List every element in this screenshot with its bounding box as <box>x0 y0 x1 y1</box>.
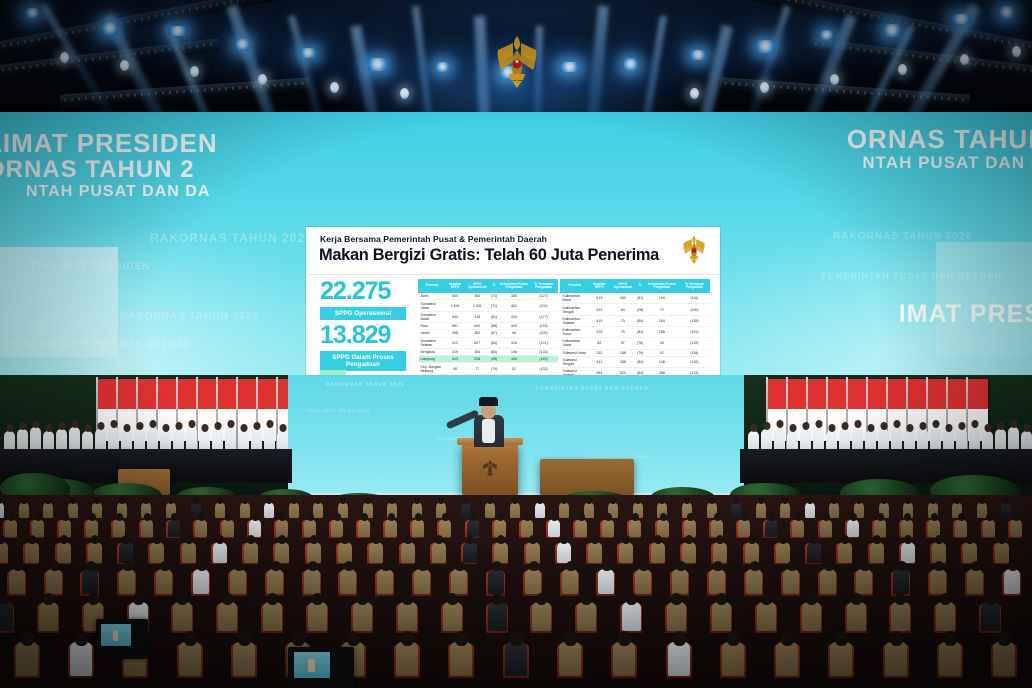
audience-member <box>385 519 397 537</box>
audience-head <box>21 497 27 504</box>
audience-member <box>682 542 696 563</box>
audience-head <box>234 561 244 571</box>
audience-head <box>308 561 318 571</box>
audience-member <box>263 602 282 631</box>
audience-member <box>119 569 135 594</box>
table-cell: 57 <box>610 338 636 349</box>
table-row: Sumatera Barat544418(81)404(177) <box>419 311 558 322</box>
stage-table-right <box>540 459 634 495</box>
audience-member <box>398 602 417 631</box>
audience-head <box>463 497 469 504</box>
table-header-cell: Provinsi <box>561 280 590 293</box>
audience-head <box>466 535 474 544</box>
audience-member <box>672 569 688 594</box>
table-cell: 92 <box>644 349 679 356</box>
audience-member <box>396 642 418 676</box>
audience-member <box>215 502 225 518</box>
audience-head <box>935 535 943 544</box>
audience-member <box>5 519 17 537</box>
audience-head <box>43 593 54 605</box>
audience-member <box>598 569 614 594</box>
table-cell: 305 <box>498 293 530 300</box>
table-cell: 82 <box>589 338 609 349</box>
audience-member <box>230 569 246 594</box>
backdrop-text-right-1: ORNAS TAHUN <box>847 126 1032 153</box>
kpi-value-2: 13.829 <box>320 323 406 348</box>
table-cell: 382 <box>465 330 490 337</box>
table-cell: (84) <box>636 315 644 326</box>
audience-head <box>787 561 797 571</box>
audience-head <box>492 593 503 605</box>
camera-rig-left <box>96 619 148 659</box>
stage-light <box>690 50 706 60</box>
light-beam <box>226 4 325 112</box>
audience-head <box>904 513 911 521</box>
table-cell: (101) <box>530 300 558 311</box>
table-row: Riau881600(88)409(118) <box>419 323 558 330</box>
audience-member <box>776 642 798 676</box>
audience-member <box>43 502 53 518</box>
audience-member <box>195 519 207 537</box>
table-cell: 148 <box>644 356 679 367</box>
audience-member <box>807 542 821 563</box>
seated-delegate <box>251 429 262 451</box>
audience-head <box>537 497 543 504</box>
audience-member <box>0 502 4 518</box>
table-cell: 188 <box>610 349 636 356</box>
audience-member <box>304 569 320 594</box>
table-cell: Kalimantan Timur <box>561 327 590 338</box>
audience-head <box>1013 513 1020 521</box>
audience-head <box>954 497 960 504</box>
audience-head <box>581 593 592 605</box>
seated-delegate <box>108 427 119 451</box>
table-cell: (79) <box>490 363 498 374</box>
audience-member <box>830 642 852 676</box>
camera-monitor-center <box>294 652 330 678</box>
audience-head <box>605 513 612 521</box>
seated-delegate <box>1008 427 1019 451</box>
table-cell: 188 <box>644 327 679 338</box>
table-cell: (84) <box>490 348 498 355</box>
audience-member <box>439 519 451 537</box>
audience-member <box>820 519 832 537</box>
stage-light-round <box>60 52 69 63</box>
speaker-shirt <box>482 419 495 443</box>
audience-head <box>761 593 772 605</box>
stage-light <box>952 14 971 24</box>
audience-member <box>233 642 255 676</box>
audience-member <box>353 602 372 631</box>
audience-member <box>622 602 641 631</box>
audience-head <box>930 497 936 504</box>
audience-member <box>995 542 1009 563</box>
stage-light <box>368 58 387 71</box>
audience-member <box>39 602 58 631</box>
stage-backdrop-text-3: PEMERINTAH PUSAT DAN DAERAH <box>536 387 649 392</box>
audience-head <box>931 513 938 521</box>
audience-member <box>331 519 343 537</box>
audience-member <box>930 569 946 594</box>
seated-delegate <box>813 427 824 451</box>
audience-member <box>193 569 209 594</box>
table-header-cell: Sasaran SPPG <box>445 280 464 293</box>
table-cell: 627 <box>465 337 490 348</box>
audience-head <box>267 593 278 605</box>
audience-member <box>955 519 967 537</box>
audience-head <box>198 513 205 521</box>
table-cell: 818 <box>465 356 490 363</box>
side-monitor-right <box>936 242 1032 357</box>
audience-member <box>412 519 424 537</box>
audience-head <box>895 593 906 605</box>
audience-head <box>470 513 477 521</box>
audience-member <box>0 542 8 563</box>
audience-member <box>711 519 723 537</box>
audience-head <box>660 513 667 521</box>
audience-head <box>560 535 568 544</box>
audience-member <box>289 502 299 518</box>
audience-head <box>144 513 151 521</box>
table-cell: (100) <box>679 304 709 315</box>
audience-member <box>267 569 283 594</box>
audience-head <box>841 535 849 544</box>
seated-delegate <box>917 429 928 451</box>
audience-member <box>722 642 744 676</box>
stage-light-round <box>760 82 769 93</box>
stage-light <box>436 62 449 72</box>
audience-member <box>526 542 540 563</box>
audience-member <box>150 542 164 563</box>
backdrop-text-right-4: RAKORNAS TAHUN 2026 <box>833 232 972 242</box>
backdrop-text-left-1: LIMAT PRESIDEN <box>0 130 218 157</box>
audience-member <box>369 542 383 563</box>
audience-member <box>0 602 13 631</box>
audience-head <box>727 631 740 646</box>
audience-member <box>59 519 71 537</box>
audience-member <box>820 569 836 594</box>
table-row: Kalimantan Tengah31984(28)72(100) <box>561 304 710 315</box>
stage-light <box>236 38 249 51</box>
audience-head <box>709 497 715 504</box>
table-cell: 881 <box>445 323 464 330</box>
audience-head <box>586 497 592 504</box>
table-cell: (71) <box>490 293 498 300</box>
stage-light <box>300 48 316 58</box>
table-header-cell: % Termasuk Pengadaan <box>530 280 558 293</box>
audience-member <box>657 519 669 537</box>
seated-delegate <box>904 431 915 451</box>
table-cell: Sulawesi Utara <box>561 349 590 356</box>
table-cell: 341 <box>589 356 609 367</box>
audience-member <box>113 519 125 537</box>
audience-head <box>714 513 721 521</box>
seated-delegate <box>82 431 93 451</box>
table-cell: 519 <box>589 293 609 304</box>
seated-delegate <box>225 427 236 451</box>
audience-head <box>536 593 547 605</box>
audience-head <box>89 513 96 521</box>
table-cell: Kalimantan Utara <box>561 338 590 349</box>
table-cell: 106 <box>498 348 530 355</box>
audience-member <box>1001 502 1011 518</box>
seated-delegate <box>199 431 210 451</box>
audience-head <box>687 513 694 521</box>
audience-head <box>748 535 756 544</box>
seated-delegate <box>839 429 850 451</box>
audience-head <box>357 593 368 605</box>
audience-member <box>635 569 651 594</box>
table-cell: 404 <box>498 311 530 322</box>
table-cell: Riau <box>419 323 446 330</box>
audience-member <box>401 542 415 563</box>
audience-head <box>310 535 318 544</box>
audience-member <box>313 502 323 518</box>
seated-delegate <box>891 427 902 451</box>
table-cell: Sumatera Utara <box>419 300 446 311</box>
table-cell: 418 <box>465 311 490 322</box>
audience-head <box>873 535 881 544</box>
audience-head <box>934 561 944 571</box>
audience-head <box>733 497 739 504</box>
table-cell: (127) <box>530 293 558 300</box>
table-cell: 398 <box>445 330 464 337</box>
table-cell: 540 <box>445 293 464 300</box>
audience-member <box>32 519 44 537</box>
audience-member <box>307 542 321 563</box>
table-header-cell: % <box>636 280 644 293</box>
table-cell: (133) <box>679 338 709 349</box>
seated-delegate <box>121 431 132 451</box>
audience-head <box>897 561 907 571</box>
audience-head <box>713 561 723 571</box>
table-cell: 219 <box>445 348 464 355</box>
podium-garuda-icon <box>480 457 500 479</box>
table-cell: 318 <box>589 327 609 338</box>
stage-light-round <box>830 74 839 85</box>
audience-head <box>365 497 371 504</box>
audience-member <box>414 569 430 594</box>
audience-head <box>402 593 413 605</box>
audience-head <box>998 631 1011 646</box>
table-row: Lampung913818(98)409(140) <box>419 356 558 363</box>
audience-head <box>497 513 504 521</box>
audience-member <box>936 602 955 631</box>
audience-head <box>676 561 686 571</box>
audience-head <box>510 631 523 646</box>
table-cell: (28) <box>636 304 644 315</box>
audience-member <box>70 642 92 676</box>
table-cell: 98 <box>498 330 530 337</box>
audience-member <box>213 542 227 563</box>
audience-head <box>389 497 395 504</box>
audience-member <box>901 519 913 537</box>
seated-delegate <box>212 429 223 451</box>
audience-member <box>684 519 696 537</box>
stage-light-round <box>690 88 699 99</box>
audience-head <box>415 513 422 521</box>
audience-head <box>160 561 170 571</box>
audience-member <box>141 519 153 537</box>
audience-member <box>983 519 995 537</box>
table-cell: 419 <box>589 315 609 326</box>
stage-light <box>884 24 900 37</box>
audience-head <box>334 513 341 521</box>
table-cell: (118) <box>679 349 709 356</box>
stage-light <box>102 22 118 35</box>
audience-head <box>782 497 788 504</box>
audience-head <box>850 513 857 521</box>
stage-light-round <box>898 64 907 75</box>
audience-member <box>249 519 261 537</box>
table-header-cell: % <box>490 280 498 293</box>
side-monitor-left <box>0 247 118 357</box>
audience-head <box>242 497 248 504</box>
seated-delegate <box>95 429 106 451</box>
audience-member <box>57 542 71 563</box>
stage-light-round <box>960 54 969 65</box>
audience-member <box>304 519 316 537</box>
seated-delegate <box>865 431 876 451</box>
table-cell: (100) <box>530 330 558 337</box>
audience-head <box>673 631 686 646</box>
audience-member <box>756 502 766 518</box>
audience-member <box>488 569 504 594</box>
audience-head <box>806 593 817 605</box>
audience-head <box>835 631 848 646</box>
podium <box>462 443 518 495</box>
audience-member <box>709 569 725 594</box>
audience-member <box>776 542 790 563</box>
table-cell: 79 <box>610 327 636 338</box>
seated-delegate <box>238 431 249 451</box>
table-row: Sumatera Selatan913627(64)416(121) <box>419 337 558 348</box>
table-row: Kalimantan Barat519400(81)199(116) <box>561 293 710 304</box>
audience-member <box>358 519 370 537</box>
seated-delegate <box>774 427 785 451</box>
table-cell: Kalimantan Tengah <box>561 304 590 315</box>
audience-member <box>222 519 234 537</box>
seated-delegate <box>800 429 811 451</box>
audience-head <box>940 593 951 605</box>
audience-member <box>179 642 201 676</box>
audience-head <box>35 513 42 521</box>
audience-member <box>802 602 821 631</box>
audience-head <box>185 535 193 544</box>
table-cell: 463 <box>498 300 530 311</box>
audience-head <box>671 593 682 605</box>
seated-delegate <box>969 427 980 451</box>
seated-delegate <box>761 429 772 451</box>
table-cell: Sulawesi Tengah <box>561 356 590 367</box>
audience-head <box>944 631 957 646</box>
audience-head <box>70 497 76 504</box>
audience-member <box>993 642 1015 676</box>
audience-head <box>856 497 862 504</box>
audience-head <box>654 535 662 544</box>
audience-head <box>551 513 558 521</box>
audience-member <box>377 569 393 594</box>
audience-head <box>442 513 449 521</box>
audience-head <box>153 535 161 544</box>
audience-member <box>588 542 602 563</box>
stage-light-round <box>1012 46 1021 57</box>
audience-member <box>244 542 258 563</box>
table-cell: 49 <box>644 338 679 349</box>
table-cell: 400 <box>610 293 636 304</box>
audience-member <box>967 569 983 594</box>
kpi-sppg-pengadaan: 13.829 SPPG Dalam Proses Pengadaan <box>320 323 406 371</box>
garuda-emblem-slide <box>680 232 708 266</box>
table-cell: (79) <box>636 349 644 356</box>
seated-delegate <box>943 431 954 451</box>
audience-member <box>463 542 477 563</box>
seated-delegate <box>1021 431 1032 451</box>
table-row: Kalimantan Utara8257(76)49(133) <box>561 338 710 349</box>
kpi-label-2: SPPG Dalam Proses Pengadaan <box>320 351 406 371</box>
audience-head <box>50 561 60 571</box>
stage-backdrop-text-1: RAKORNAS TAHUN 2026 <box>326 383 405 388</box>
audience-head <box>0 593 9 605</box>
table-cell: (132) <box>530 363 558 374</box>
audience-member <box>168 519 180 537</box>
audience-head <box>851 593 862 605</box>
audience-member <box>829 502 839 518</box>
seated-delegate <box>982 431 993 451</box>
stage-light-round <box>190 66 199 77</box>
audience-head <box>28 535 36 544</box>
audience-head <box>344 561 354 571</box>
table-header-cell: Sasaran SPPG <box>589 280 609 293</box>
stage-light <box>624 58 637 71</box>
audience-head <box>291 497 297 504</box>
audience-head <box>168 497 174 504</box>
table-cell: 984 <box>589 368 609 375</box>
audience-head <box>823 513 830 521</box>
seated-delegate <box>787 431 798 451</box>
table-cell: (76) <box>636 338 644 349</box>
audience-member <box>68 502 78 518</box>
conference-hall-scene: LIMAT PRESIDEN ORNAS TAHUN 2 NTAH PUSAT … <box>0 0 1032 688</box>
stage-light <box>168 26 187 36</box>
table-cell: 600 <box>465 323 490 330</box>
table-cell: (123) <box>679 368 709 375</box>
audience-head <box>877 513 884 521</box>
seated-delegate <box>56 429 67 451</box>
audience-member <box>156 569 172 594</box>
audience-head <box>979 497 985 504</box>
audience-member <box>494 542 508 563</box>
stage-light <box>820 30 833 40</box>
table-row: Sulawesi Utara232188(79)92(118) <box>561 349 710 356</box>
audience-head <box>810 535 818 544</box>
audience-member <box>602 519 614 537</box>
audience-head <box>91 535 99 544</box>
audience-member <box>505 642 527 676</box>
audience-member <box>25 542 39 563</box>
audience-member <box>619 542 633 563</box>
table-row: Kalimantan Selatan41973(84)184(128) <box>561 315 710 326</box>
audience-member <box>16 642 38 676</box>
table-cell: 319 <box>589 304 609 315</box>
audience-member <box>494 519 506 537</box>
audience-head <box>566 561 576 571</box>
audience-head <box>292 631 305 646</box>
table-cell: 409 <box>498 323 530 330</box>
slide-kicker: Kerja Bersama Pemerintah Pusat & Pemerin… <box>320 234 547 244</box>
audience-member <box>874 519 886 537</box>
audience-member <box>893 569 909 594</box>
